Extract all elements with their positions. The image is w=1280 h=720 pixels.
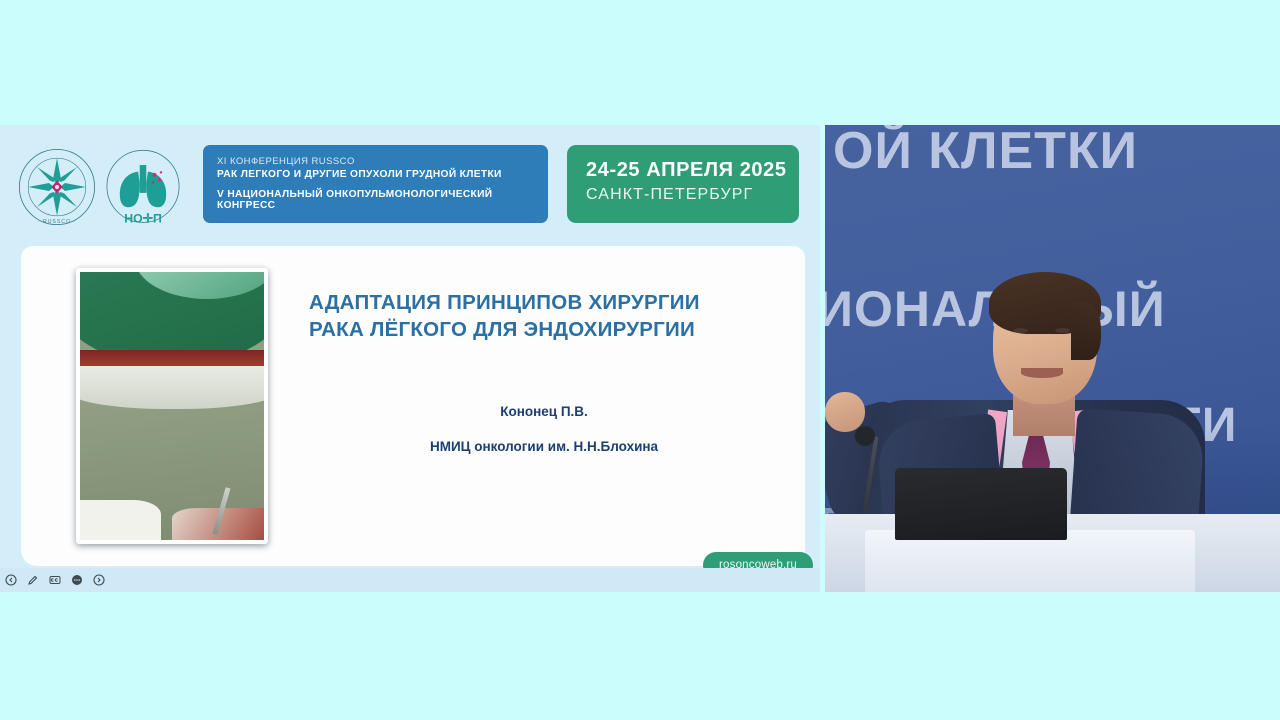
conference-banner-line2: РАК ЛЕГКОГО И ДРУГИЕ ОПУХОЛИ ГРУДНОЙ КЛЕ…: [217, 169, 548, 180]
conference-banner-line3: V НАЦИОНАЛЬНЫЙ ОНКОПУЛЬМОНОЛОГИЧЕСКИЙ КО…: [217, 189, 548, 211]
backdrop-text-line1: ОЙ КЛЕТКИ: [833, 125, 1138, 181]
arrow-right-circle-icon: [93, 574, 105, 586]
arrow-left-circle-icon: [5, 574, 17, 586]
player-toolbar: [0, 568, 820, 592]
ellipsis-circle-icon: [71, 574, 83, 586]
slide-title-line2: РАКА ЛЁГКОГО ДЛЯ ЭНДОХИРУРГИИ: [309, 316, 779, 343]
speaker-video[interactable]: ОЙ КЛЕТКИ ИОНАЛЬНЫЙ ПУЛЬМОНОЛОГИ ЕССО ОЙ…: [825, 125, 1280, 592]
date-location-banner: 24-25 АПРЕЛЯ 2025 САНКТ-ПЕТЕРБУРГ: [567, 145, 799, 223]
slide-title-line1: АДАПТАЦИЯ ПРИНЦИПОВ ХИРУРГИИ: [309, 289, 779, 316]
previous-slide-button[interactable]: [5, 574, 17, 586]
slide-header: · RUSSCO · НО✛П: [0, 125, 820, 243]
captions-button[interactable]: [49, 574, 61, 586]
author-name: Кононец П.В.: [309, 404, 779, 419]
speaker-hair-side: [1071, 302, 1101, 360]
speaker-mouth: [1021, 368, 1063, 378]
more-options-button[interactable]: [71, 574, 83, 586]
closed-captions-icon: [49, 574, 61, 586]
speaker-hand: [825, 392, 865, 432]
speaker-eye-left: [1013, 328, 1028, 333]
conference-banner-line1: XI КОНФЕРЕНЦИЯ RUSSCO: [217, 156, 548, 167]
conference-banner: XI КОНФЕРЕНЦИЯ RUSSCO РАК ЛЕГКОГО И ДРУГ…: [203, 145, 548, 223]
svg-text:НО✛П: НО✛П: [124, 211, 162, 225]
microphone-head: [855, 426, 875, 446]
pencil-icon: [27, 574, 39, 586]
speaker-eye-right: [1055, 328, 1070, 333]
slide-title: АДАПТАЦИЯ ПРИНЦИПОВ ХИРУРГИИ РАКА ЛЁГКОГ…: [309, 289, 779, 344]
annotate-button[interactable]: [27, 574, 39, 586]
noap-logo: НО✛П: [100, 147, 186, 229]
player-stage: · RUSSCO · НО✛П: [0, 0, 1280, 720]
next-slide-button[interactable]: [93, 574, 105, 586]
conference-dates: 24-25 АПРЕЛЯ 2025: [586, 159, 799, 182]
laptop: [895, 468, 1067, 540]
author-affiliation: НМИЦ онкологии им. Н.Н.Блохина: [309, 439, 779, 454]
surgery-photo: [76, 268, 268, 544]
russco-logo: · RUSSCO ·: [16, 147, 98, 227]
site-badge[interactable]: rosoncoweb.ru: [703, 552, 813, 568]
conference-city: САНКТ-ПЕТЕРБУРГ: [586, 186, 799, 204]
svg-text:· RUSSCO ·: · RUSSCO ·: [38, 219, 76, 225]
slide-content-card: АДАПТАЦИЯ ПРИНЦИПОВ ХИРУРГИИ РАКА ЛЁГКОГ…: [21, 246, 805, 566]
slide-author-block: Кононец П.В. НМИЦ онкологии им. Н.Н.Блох…: [309, 404, 779, 454]
slide-panel[interactable]: · RUSSCO · НО✛П: [0, 125, 820, 568]
